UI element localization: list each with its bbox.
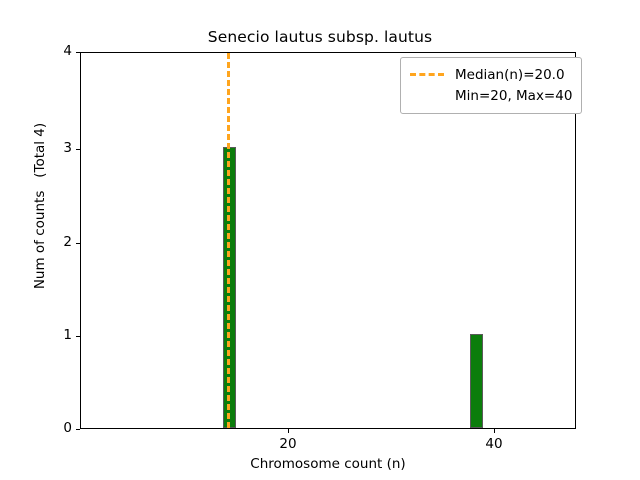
y-tick-label-3: 3 [52, 142, 72, 156]
y-axis-label: Num of counts (Total 4) [32, 56, 48, 356]
x-tick-label-40: 40 [470, 436, 518, 452]
x-tick-label-20: 20 [264, 436, 312, 452]
y-tick-label-1: 1 [52, 329, 72, 343]
x-tick-mark-40 [494, 429, 495, 433]
legend-label-median: Median(n)=20.0 [455, 67, 565, 83]
legend-entry-minmax: Min=20, Max=40 [410, 85, 572, 106]
y-tick-label-4: 4 [52, 45, 72, 59]
chart-title: Senecio lautus subsp. lautus [0, 28, 640, 46]
y-tick-label-0: 0 [52, 422, 72, 436]
y-tick-mark-0 [76, 429, 80, 430]
y-tick-label-2: 2 [52, 236, 72, 250]
median-line [227, 53, 230, 428]
legend-box: Median(n)=20.0 Min=20, Max=40 [400, 57, 582, 114]
figure-canvas: Senecio lautus subsp. lautus 0 1 2 3 4 N… [0, 0, 640, 480]
legend-label-minmax: Min=20, Max=40 [455, 88, 572, 104]
x-tick-mark-20 [288, 429, 289, 433]
dashed-line-icon [410, 73, 444, 76]
x-axis-label: Chromosome count (n) [80, 456, 576, 472]
bar-chromosome-40 [470, 334, 483, 428]
legend-entry-median: Median(n)=20.0 [410, 64, 572, 85]
